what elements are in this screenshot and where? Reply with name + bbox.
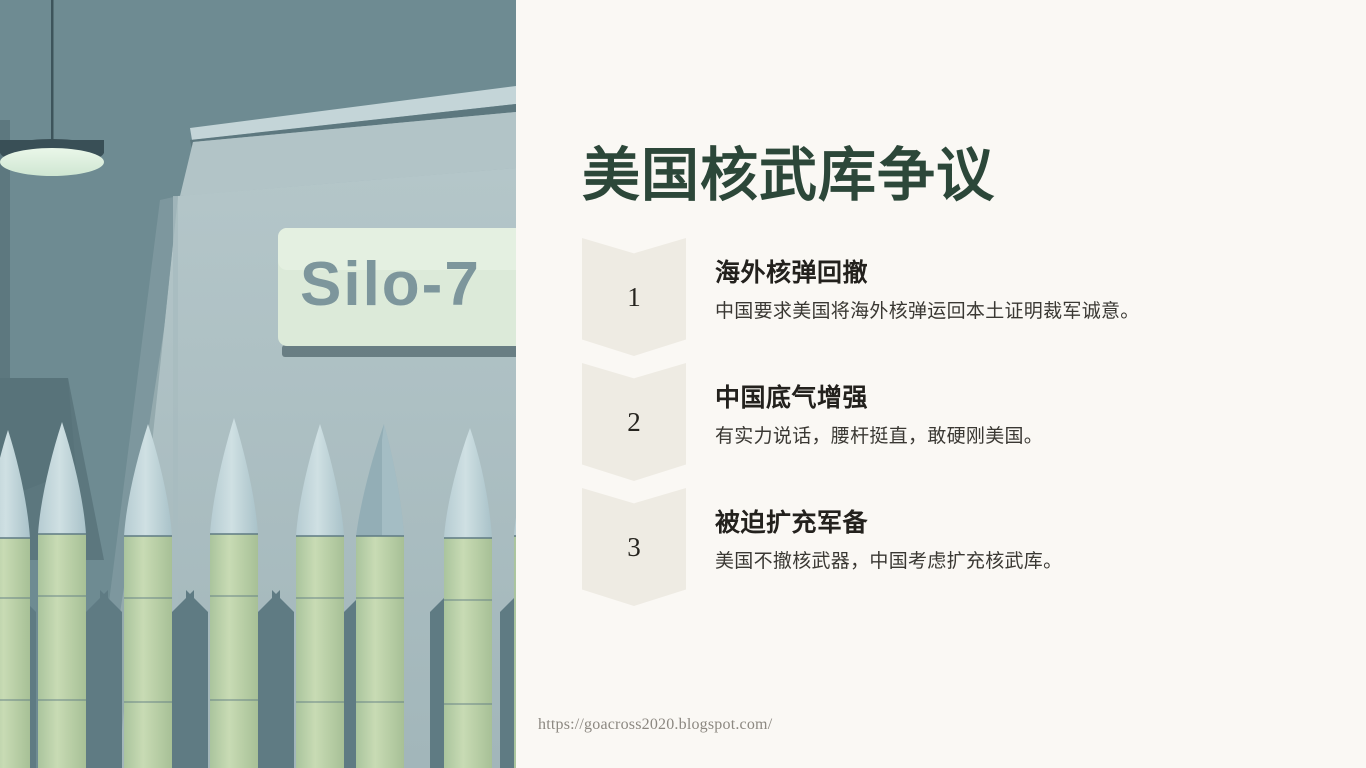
content-panel: 美国核武库争议 1 海外核弹回撤 中国要求美国将海外核弹运回本土证明裁军诚意。 … (516, 0, 1366, 768)
svg-text:Silo-7: Silo-7 (300, 250, 481, 319)
page-title: 美国核武库争议 (582, 128, 995, 212)
list-item-heading: 海外核弹回撤 (715, 258, 1315, 289)
slide: Silo-7 美国核武库争议 1 海外核弹回撤 中国要求美国将海外核弹运回本土证… (0, 0, 1366, 768)
list-item-description: 有实力说话，腰杆挺直，敢硬刚美国。 (715, 424, 1315, 450)
badge-number: 1 (582, 238, 686, 356)
list-item[interactable]: 2 中国底气增强 有实力说话，腰杆挺直，敢硬刚美国。 (582, 363, 1322, 488)
list-item-text: 海外核弹回撤 中国要求美国将海外核弹运回本土证明裁军诚意。 (715, 258, 1315, 325)
list-item-heading: 被迫扩充军备 (715, 508, 1315, 539)
list-item-text: 中国底气增强 有实力说话，腰杆挺直，敢硬刚美国。 (715, 383, 1315, 450)
list-item-description: 美国不撤核武器，中国考虑扩充核武库。 (715, 549, 1315, 575)
numbered-list: 1 海外核弹回撤 中国要求美国将海外核弹运回本土证明裁军诚意。 2 中国底气增强… (582, 238, 1322, 613)
badge-number: 3 (582, 488, 686, 606)
missile-silo-illustration: Silo-7 (0, 0, 516, 768)
list-item-heading: 中国底气增强 (715, 383, 1315, 414)
list-item[interactable]: 1 海外核弹回撤 中国要求美国将海外核弹运回本土证明裁军诚意。 (582, 238, 1322, 363)
badge-number: 2 (582, 363, 686, 481)
list-item[interactable]: 3 被迫扩充军备 美国不撤核武器，中国考虑扩充核武库。 (582, 488, 1322, 613)
footer-url[interactable]: https://goacross2020.blogspot.com/ (538, 716, 772, 734)
list-item-description: 中国要求美国将海外核弹运回本土证明裁军诚意。 (715, 299, 1315, 325)
list-item-text: 被迫扩充军备 美国不撤核武器，中国考虑扩充核武库。 (715, 508, 1315, 575)
silo-sign-text: Silo-7 (300, 250, 481, 319)
